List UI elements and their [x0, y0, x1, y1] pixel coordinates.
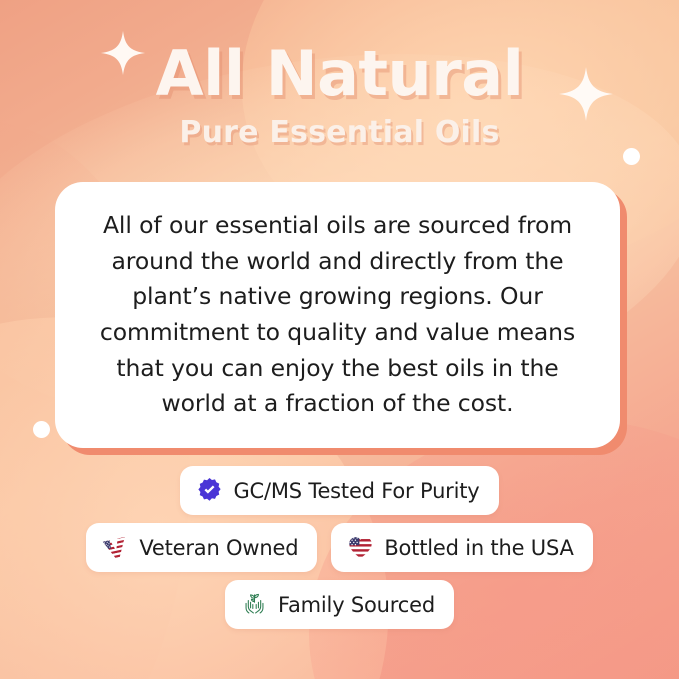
badge-row-2: Veteran Owned — [0, 523, 679, 572]
badge-family-sourced[interactable]: Family Sourced — [225, 580, 454, 629]
badge-row-1: GC/MS Tested For Purity — [0, 466, 679, 515]
page-title: All Natural — [0, 42, 679, 105]
badge-gcms-tested[interactable]: GC/MS Tested For Purity — [180, 466, 498, 515]
us-flag-chevron-icon — [102, 534, 129, 561]
badge-group: GC/MS Tested For Purity — [0, 466, 679, 637]
badge-bottled-in-usa[interactable]: Bottled in the USA — [331, 523, 592, 572]
heading-block: All Natural Pure Essential Oils — [0, 42, 679, 150]
page-subtitle: Pure Essential Oils — [0, 115, 679, 150]
badge-veteran-owned[interactable]: Veteran Owned — [86, 523, 317, 572]
badge-label: Family Sourced — [278, 593, 435, 617]
badge-label: GC/MS Tested For Purity — [233, 479, 479, 503]
poster-canvas: All Natural Pure Essential Oils All of o… — [0, 0, 679, 679]
decorative-dot-left — [33, 421, 50, 438]
description-text: All of our essential oils are sourced fr… — [81, 208, 594, 422]
badge-label: Bottled in the USA — [384, 536, 573, 560]
decorative-dot-right — [623, 148, 640, 165]
badge-row-3: Family Sourced — [0, 580, 679, 629]
us-flag-heart-icon — [347, 534, 374, 561]
verified-badge-icon — [196, 477, 223, 504]
hands-holding-plant-icon — [241, 591, 268, 618]
description-card: All of our essential oils are sourced fr… — [55, 182, 620, 448]
badge-label: Veteran Owned — [139, 536, 298, 560]
